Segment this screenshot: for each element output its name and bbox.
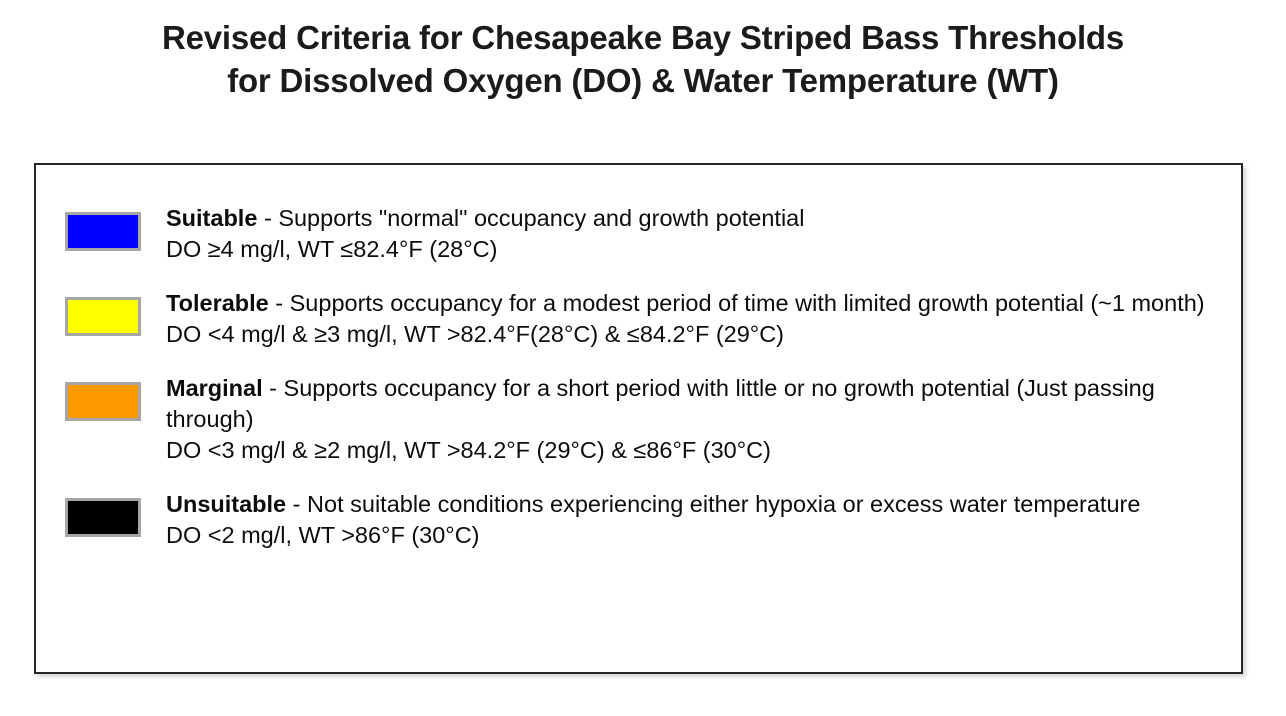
color-swatch-yellow bbox=[65, 297, 141, 336]
legend-criteria: DO <4 mg/l & ≥3 mg/l, WT >82.4°F(28°C) &… bbox=[166, 319, 1221, 350]
legend-separator: - bbox=[257, 205, 278, 231]
legend-separator: - bbox=[263, 375, 284, 401]
legend-description-line: Unsuitable - Not suitable conditions exp… bbox=[166, 489, 1221, 520]
legend-text-suitable: Suitable - Supports "normal" occupancy a… bbox=[166, 203, 1229, 265]
legend-list: Suitable - Supports "normal" occupancy a… bbox=[36, 165, 1241, 672]
legend-criteria: DO <3 mg/l & ≥2 mg/l, WT >84.2°F (29°C) … bbox=[166, 435, 1221, 466]
legend-term: Suitable bbox=[166, 205, 257, 231]
legend-description: Supports occupancy for a modest period o… bbox=[290, 290, 1205, 316]
legend-description: Not suitable conditions experiencing eit… bbox=[307, 491, 1140, 517]
legend-separator: - bbox=[286, 491, 307, 517]
legend-panel: Suitable - Supports "normal" occupancy a… bbox=[34, 163, 1243, 674]
color-swatch-black bbox=[65, 498, 141, 537]
page-title-line-1: Revised Criteria for Chesapeake Bay Stri… bbox=[28, 16, 1258, 59]
list-item: Unsuitable - Not suitable conditions exp… bbox=[65, 489, 1229, 551]
legend-text-tolerable: Tolerable - Supports occupancy for a mod… bbox=[166, 288, 1229, 350]
legend-swatch-cell-suitable bbox=[65, 203, 166, 251]
legend-swatch-cell-unsuitable bbox=[65, 489, 166, 537]
list-item: Marginal - Supports occupancy for a shor… bbox=[65, 373, 1229, 466]
legend-swatch-cell-tolerable bbox=[65, 288, 166, 336]
legend-text-marginal: Marginal - Supports occupancy for a shor… bbox=[166, 373, 1229, 466]
legend-description-line: Suitable - Supports "normal" occupancy a… bbox=[166, 203, 1221, 234]
color-swatch-orange bbox=[65, 382, 141, 421]
legend-description: Supports "normal" occupancy and growth p… bbox=[278, 205, 804, 231]
legend-criteria: DO <2 mg/l, WT >86°F (30°C) bbox=[166, 520, 1221, 551]
page-title: Revised Criteria for Chesapeake Bay Stri… bbox=[0, 16, 1286, 102]
page-title-line-2: for Dissolved Oxygen (DO) & Water Temper… bbox=[28, 59, 1258, 102]
list-item: Tolerable - Supports occupancy for a mod… bbox=[65, 288, 1229, 350]
slide-root: Revised Criteria for Chesapeake Bay Stri… bbox=[0, 0, 1286, 716]
legend-term: Marginal bbox=[166, 375, 263, 401]
legend-description-line: Marginal - Supports occupancy for a shor… bbox=[166, 373, 1221, 435]
legend-separator: - bbox=[269, 290, 290, 316]
legend-description-line: Tolerable - Supports occupancy for a mod… bbox=[166, 288, 1221, 319]
list-item: Suitable - Supports "normal" occupancy a… bbox=[65, 203, 1229, 265]
color-swatch-blue bbox=[65, 212, 141, 251]
legend-swatch-cell-marginal bbox=[65, 373, 166, 421]
legend-criteria: DO ≥4 mg/l, WT ≤82.4°F (28°C) bbox=[166, 234, 1221, 265]
legend-description: Supports occupancy for a short period wi… bbox=[166, 375, 1155, 432]
legend-term: Unsuitable bbox=[166, 491, 286, 517]
legend-text-unsuitable: Unsuitable - Not suitable conditions exp… bbox=[166, 489, 1229, 551]
legend-term: Tolerable bbox=[166, 290, 269, 316]
